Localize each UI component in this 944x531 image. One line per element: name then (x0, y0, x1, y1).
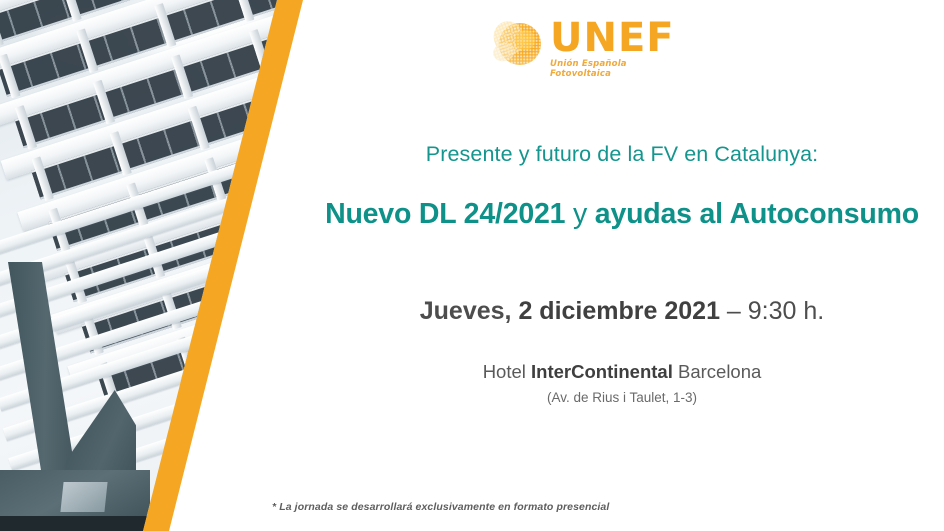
date-prefix: Jueves, (420, 297, 512, 325)
facade-mullion (282, 132, 300, 177)
event-text-block: Presente y futuro de la FV en Catalunya:… (300, 0, 944, 531)
date-time: – 9:30 h. (727, 297, 824, 325)
event-address: (Av. de Rius i Taulet, 1-3) (300, 390, 944, 405)
event-poster: UNEF Unión Española Fotovoltaica Present… (0, 0, 944, 531)
event-venue: Hotel InterContinental Barcelona (300, 361, 944, 383)
venue-name: InterContinental (531, 361, 673, 382)
venue-prefix: Hotel (483, 361, 531, 382)
headline-part-2: ayudas al Autoconsumo (595, 198, 919, 230)
headline-part-1: Nuevo DL 24/2021 (325, 198, 565, 230)
event-footnote: * La jornada se desarrollará exclusivame… (272, 501, 609, 513)
facade-mullion (254, 311, 276, 356)
facade-mullion (238, 260, 260, 305)
date-main: 2 diciembre 2021 (518, 297, 720, 325)
foreground-shadow-strip (0, 516, 160, 531)
headline-conjunction: y (565, 198, 595, 230)
event-kicker: Presente y futuro de la FV en Catalunya: (300, 142, 944, 167)
building-photo (0, 0, 300, 531)
venue-city: Barcelona (673, 361, 761, 382)
event-headline: Nuevo DL 24/2021 y ayudas al Autoconsumo (300, 198, 944, 231)
event-date: Jueves, 2 diciembre 2021 – 9:30 h. (300, 297, 944, 326)
base-window (60, 482, 107, 512)
